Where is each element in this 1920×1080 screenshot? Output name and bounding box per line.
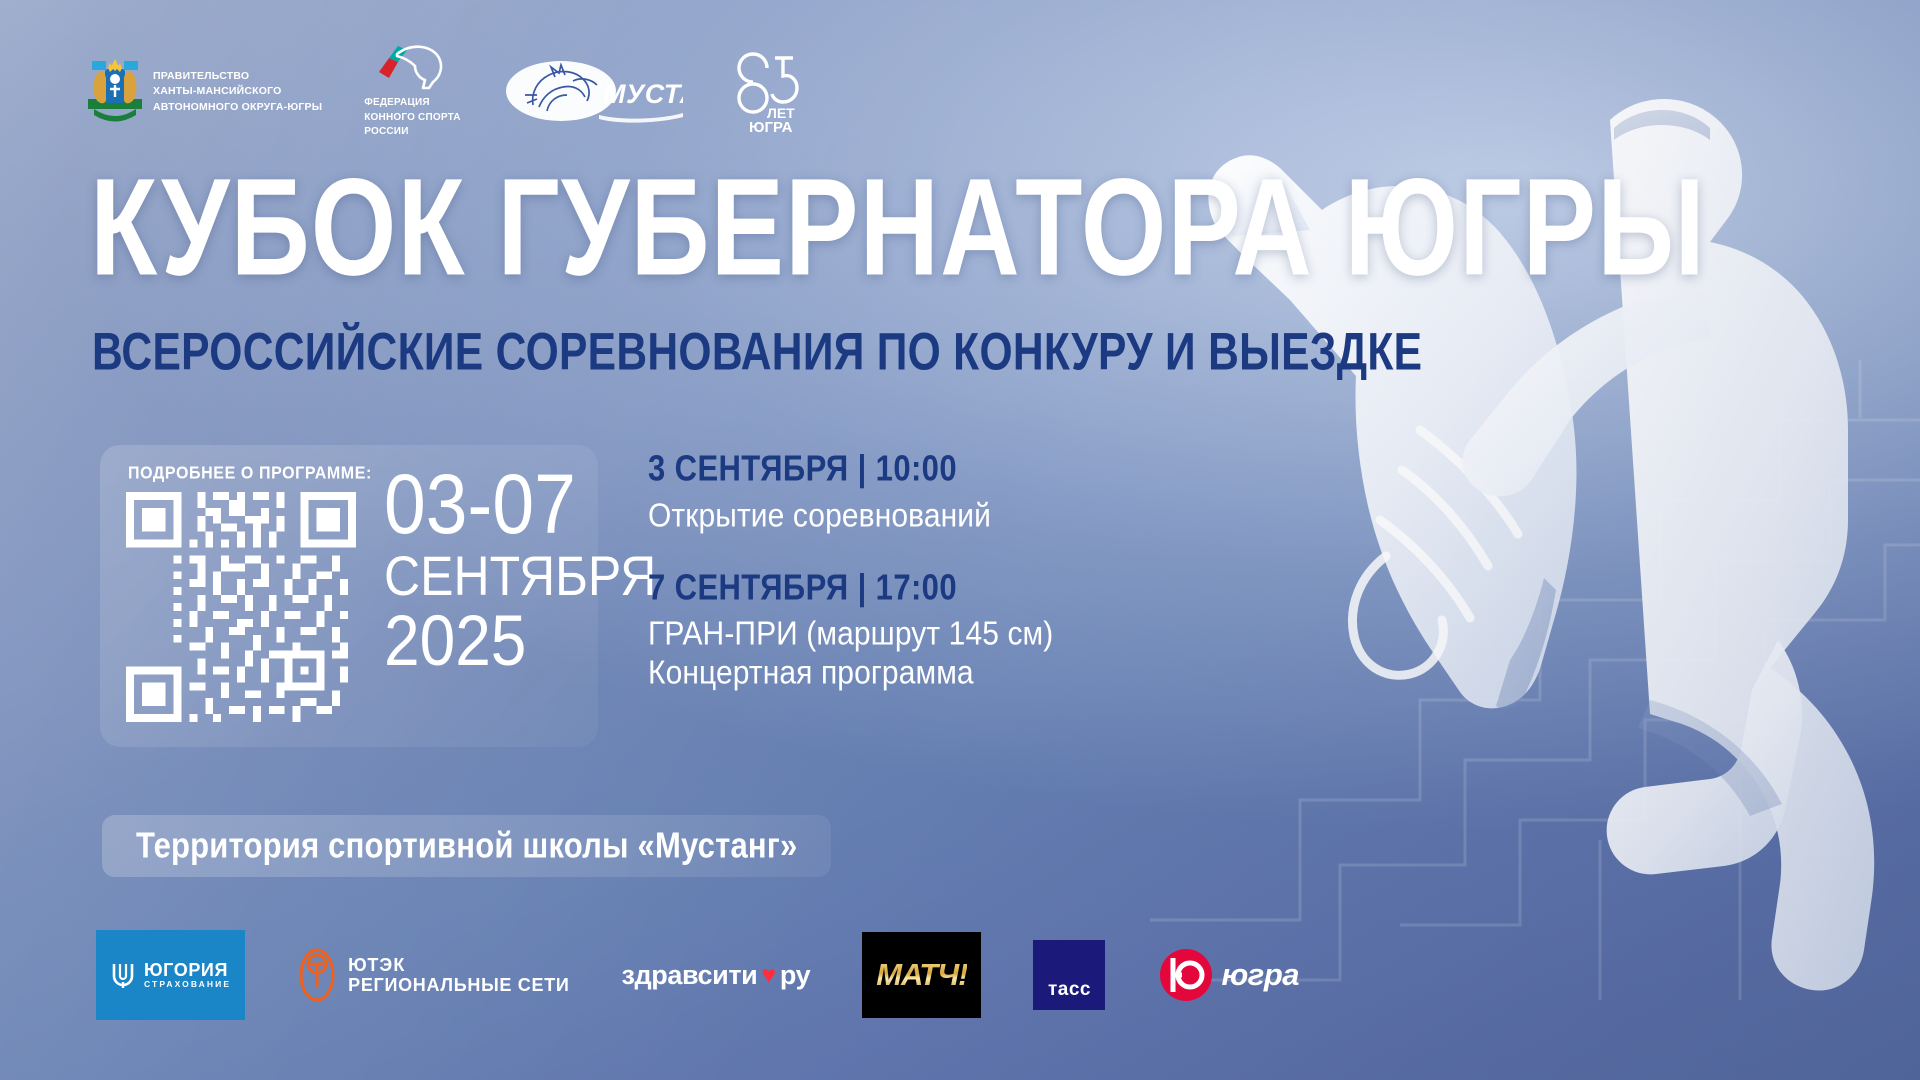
ugra-label: ЮГРА: [749, 119, 793, 134]
sponsor-zdravsiti: здравсити ♥ ру: [622, 940, 811, 1010]
zdravsiti-name: здравсити: [622, 960, 758, 991]
qr-code[interactable]: [126, 492, 356, 722]
date-year: 2025: [384, 608, 589, 675]
schedule-item-line: Концертная программа: [648, 651, 1268, 695]
yugoria-sub: СТРАХОВАНИЕ: [144, 980, 231, 989]
venue-bar: Территория спортивной школы «Мустанг»: [102, 815, 831, 877]
mustang-logo: МУСТАНГ: [503, 42, 683, 142]
page-title: КУБОК ГУБЕРНАТОРА ЮГРЫ: [90, 158, 1706, 296]
federation-caption: ФЕДЕРАЦИЯ КОННОГО СПОРТА РОССИИ: [364, 96, 460, 140]
date-range: 03-07: [384, 466, 589, 544]
heart-icon: ♥: [761, 961, 775, 990]
schedule-item-line: Открытие соревнований: [648, 494, 1268, 538]
svg-text:МУСТАНГ: МУСТАНГ: [603, 79, 683, 109]
schedule-item-line: ГРАН-ПРИ (маршрут 145 см): [648, 612, 1268, 656]
schedule-item-head: 7 СЕНТЯБРЯ | 17:00: [648, 567, 1268, 608]
qr-label: ПОДРОБНЕЕ О ПРОГРАММЕ:: [128, 464, 372, 484]
tass-name: тасс: [1048, 979, 1091, 1001]
sponsor-tass: тасс: [1033, 940, 1105, 1010]
yugoria-name: ЮГОРИЯ: [144, 961, 231, 980]
yutek-mark-icon: [297, 947, 337, 1003]
page-subtitle: ВСЕРОССИЙСКИЕ СОРЕВНОВАНИЯ ПО КОНКУРУ И …: [92, 327, 1422, 379]
yutek-sub: РЕГИОНАЛЬНЫЕ СЕТИ: [348, 975, 569, 995]
sponsor-yutek: ЮТЭК РЕГИОНАЛЬНЫЕ СЕТИ: [297, 940, 569, 1010]
schedule-item: 7 СЕНТЯБРЯ | 17:00 ГРАН-ПРИ (маршрут 145…: [648, 567, 1268, 691]
event-date-block: 03-07 СЕНТЯБРЯ 2025: [384, 466, 589, 668]
venue-label: Территория спортивной школы «Мустанг»: [136, 825, 797, 867]
ugra-tv-name: югра: [1221, 957, 1299, 993]
schedule-list: 3 СЕНТЯБРЯ | 10:00 Открытие соревнований…: [648, 448, 1268, 724]
zdravsiti-tld: ру: [780, 960, 810, 991]
ugra-coat-of-arms-icon: [86, 55, 144, 129]
ugra-95-years-logo: ЛЕТ ЮГРА: [725, 42, 801, 142]
sponsor-yugoria-insurance: ЮГОРИЯ СТРАХОВАНИЕ: [96, 930, 245, 1020]
government-caption: ПРАВИТЕЛЬСТВО ХАНТЫ-МАНСИЙСКОГО АВТОНОМН…: [153, 69, 322, 115]
government-ugra-emblem: ПРАВИТЕЛЬСТВО ХАНТЫ-МАНСИЙСКОГО АВТОНОМН…: [86, 42, 322, 142]
federation-horse-head-icon: [375, 44, 449, 92]
ugra-tv-mark-icon: [1157, 946, 1215, 1004]
mustang-horse-oval-icon: МУСТАНГ: [503, 59, 683, 125]
match-name: МАТЧ!: [876, 957, 967, 993]
event-poster: ПРАВИТЕЛЬСТВО ХАНТЫ-МАНСИЙСКОГО АВТОНОМН…: [0, 0, 1920, 1080]
partner-logo-row: ПРАВИТЕЛЬСТВО ХАНТЫ-МАНСИЙСКОГО АВТОНОМН…: [86, 42, 801, 142]
equestrian-federation-logo: ФЕДЕРАЦИЯ КОННОГО СПОРТА РОССИИ: [364, 42, 460, 142]
anniversary-95-icon: ЛЕТ ЮГРА: [725, 50, 801, 134]
sponsor-match-tv: МАТЧ!: [862, 932, 981, 1018]
yugoria-mark-icon: [110, 960, 136, 990]
schedule-item: 3 СЕНТЯБРЯ | 10:00 Открытие соревнований: [648, 448, 1268, 533]
schedule-item-head: 3 СЕНТЯБРЯ | 10:00: [648, 448, 1268, 489]
yutek-name: ЮТЭК: [348, 955, 569, 975]
sponsor-row: ЮГОРИЯ СТРАХОВАНИЕ ЮТЭК РЕГИОНАЛЬНЫЕ СЕТ…: [96, 940, 1299, 1010]
sponsor-ugra-tv: югра: [1157, 940, 1299, 1010]
date-month: СЕНТЯБРЯ: [384, 550, 589, 602]
